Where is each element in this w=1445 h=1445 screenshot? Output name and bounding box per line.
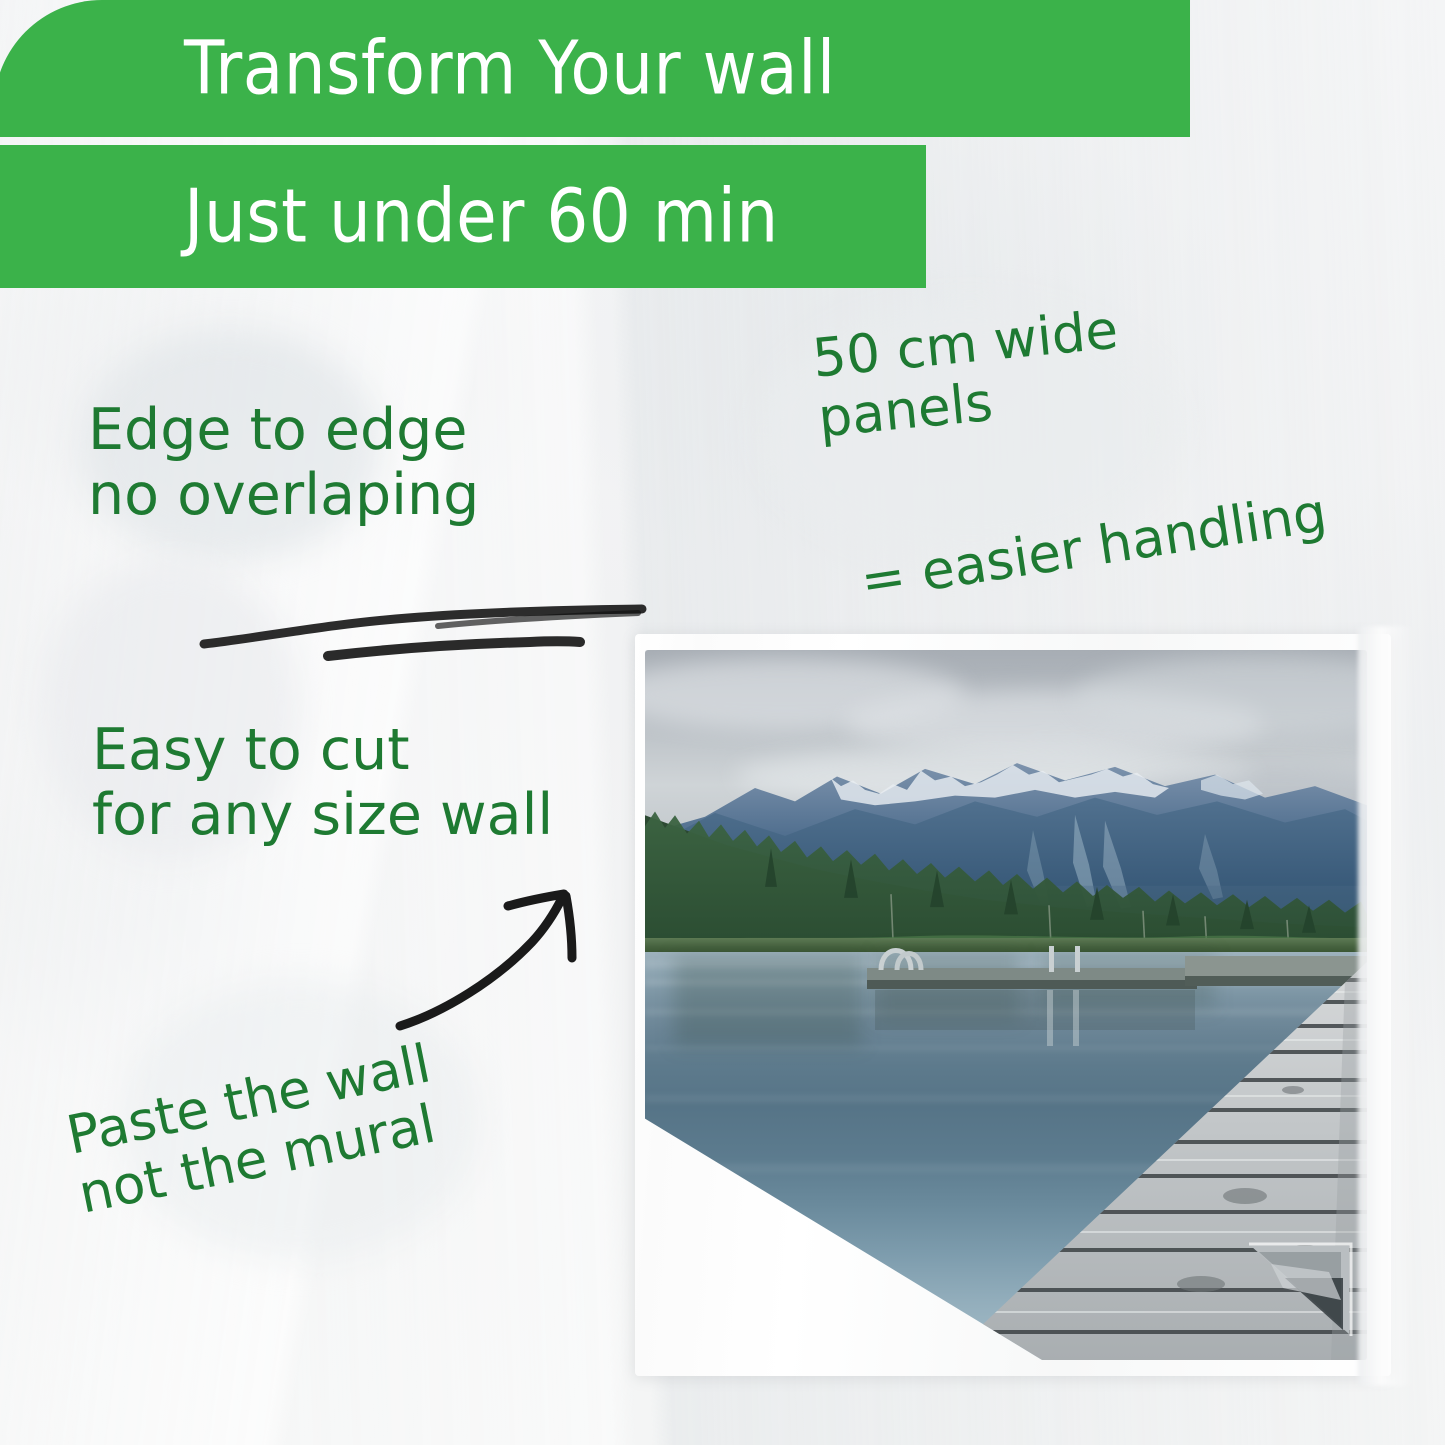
headline-banner-secondary-label: Just under 60 min (184, 173, 779, 259)
photo-swim-platform (867, 946, 1367, 1046)
feature-easy-line1: Easy to cut (92, 718, 553, 783)
wallpaper-roll-mockup (613, 626, 1413, 1416)
feature-easy-to-cut: Easy to cut for any size wall (92, 718, 553, 848)
headline-banner-primary: Transform Your wall (0, 0, 1190, 137)
headline-banner-secondary: Just under 60 min (0, 145, 926, 288)
headline-banner-primary-label: Transform Your wall (184, 25, 836, 111)
feature-edge-to-edge: Edge to edge no overlaping (88, 398, 479, 528)
paper-torn-edge-right (1358, 626, 1414, 1386)
feature-edge-line1: Edge to edge (88, 398, 479, 463)
curved-arrow-icon (392, 876, 612, 1036)
feature-edge-line2: no overlaping (88, 463, 479, 528)
feature-easy-line2: for any size wall (92, 783, 553, 848)
wallpaper-curl-corner (1237, 1238, 1357, 1342)
infographic-canvas: Transform Your wall Just under 60 min Ed… (0, 0, 1445, 1445)
marker-underline-icon (198, 598, 648, 668)
